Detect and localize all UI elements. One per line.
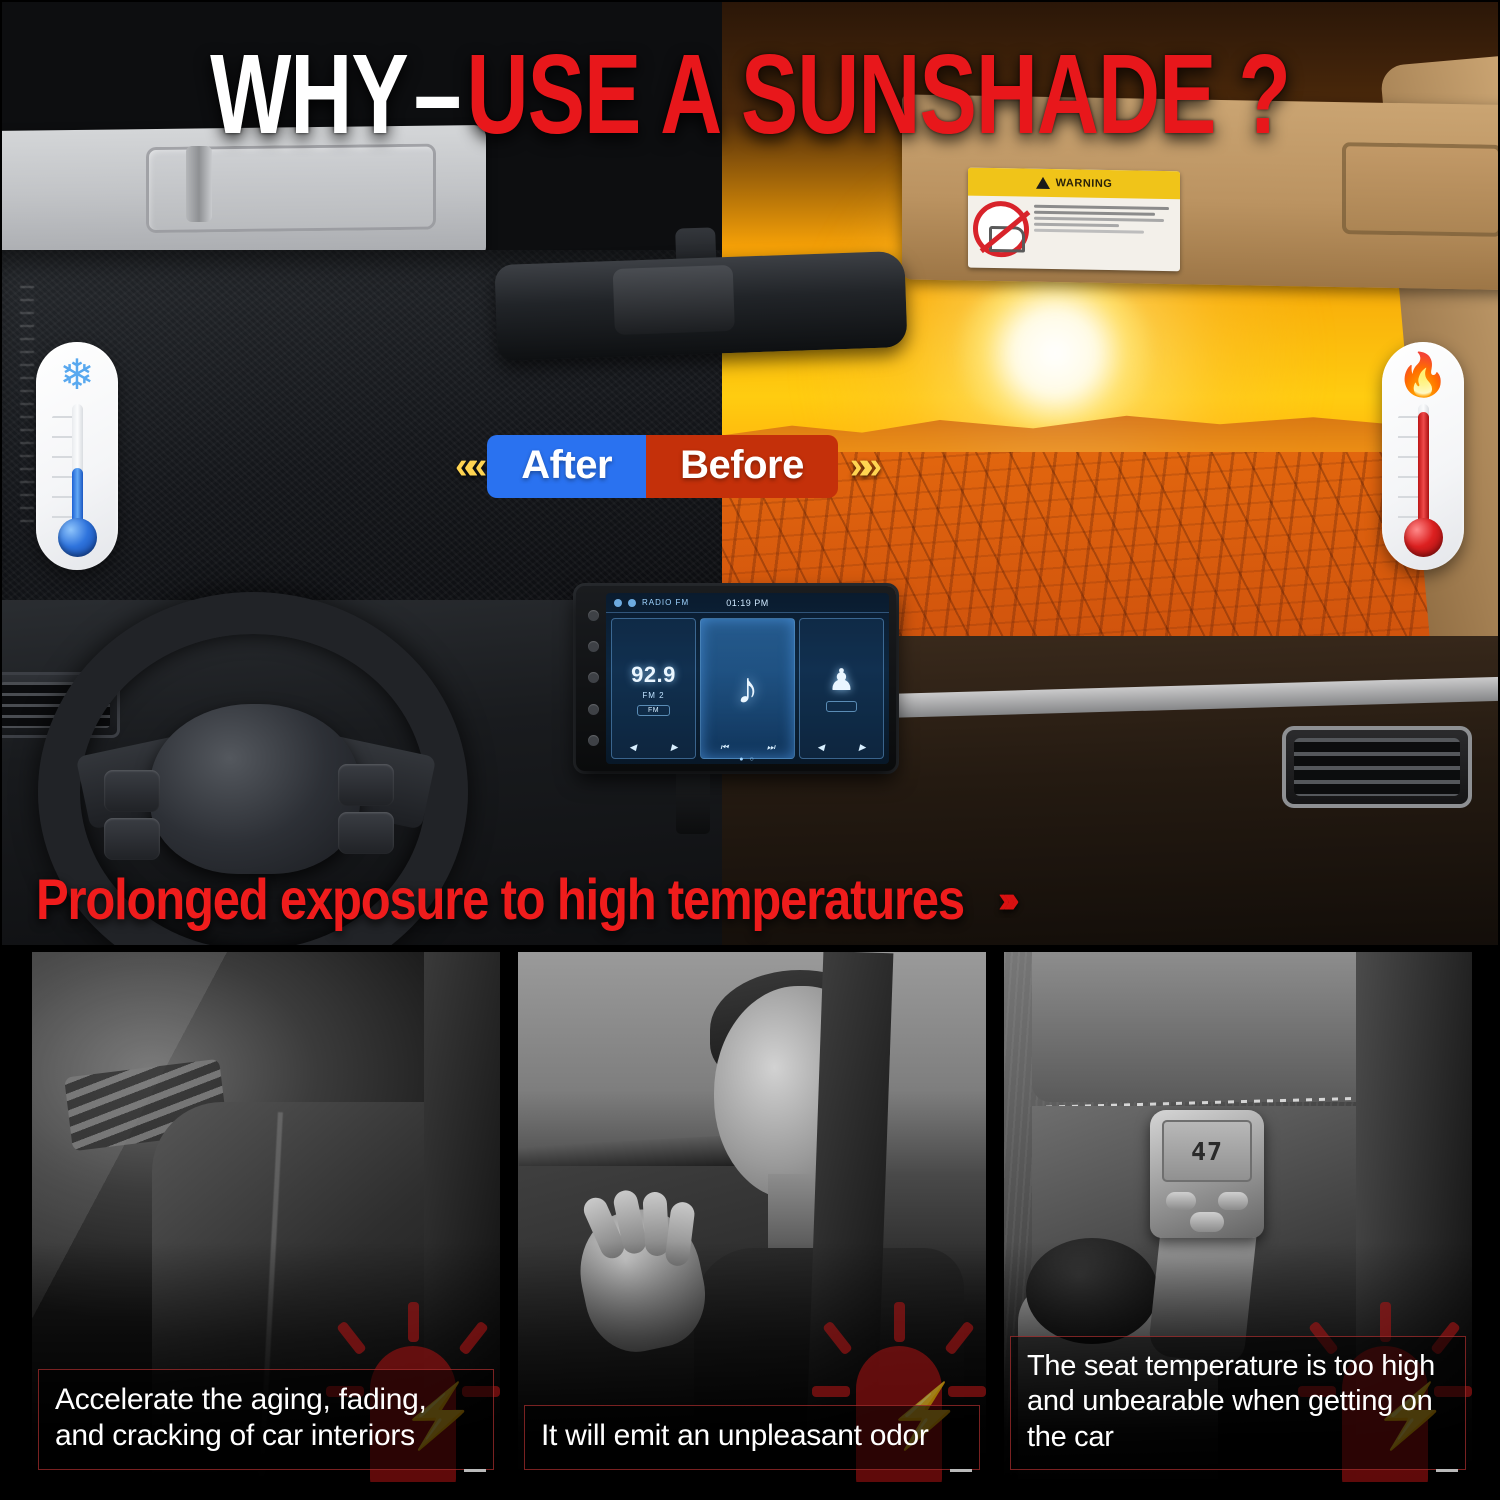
head-unit-mount — [676, 762, 710, 834]
panel1-caption-underline — [464, 1469, 486, 1472]
product-infographic: WARNING — [0, 0, 1500, 1500]
title-red-part: USE A SUNSHADE ? — [467, 31, 1290, 158]
ir-thermometer-button-c[interactable] — [1190, 1212, 1224, 1232]
hot-thermometer: 🔥 — [1382, 342, 1464, 570]
flame-icon: 🔥 — [1382, 354, 1464, 396]
infotainment-head-unit: RADIO FM 01:19 PM 92.9 FM 2 FM ◀ ▶ ♪ — [576, 586, 896, 771]
left-chevron-icon: «« — [455, 445, 477, 488]
panel3-caption: The seat temperature is too high and unb… — [1010, 1336, 1466, 1470]
no-child-seat-icon — [973, 201, 1029, 258]
warning-text-lines — [1034, 202, 1175, 260]
before-badge[interactable]: Before — [646, 435, 838, 498]
airbag-warning-label: WARNING — [968, 168, 1180, 272]
media-controls[interactable]: ⏮ ⏭ — [701, 742, 794, 753]
radio-band: FM 2 — [642, 691, 664, 700]
cold-thermometer: ❄ — [36, 342, 118, 570]
thermometer-bulb-cold — [58, 518, 97, 557]
media-prev-icon[interactable]: ⏮ — [720, 742, 728, 753]
phone-chip[interactable] — [826, 701, 858, 712]
panel2-caption: It will emit an unpleasant odor — [524, 1405, 980, 1470]
warning-label-header: WARNING — [968, 168, 1180, 200]
head-unit-button-power[interactable] — [588, 610, 599, 621]
media-next-icon[interactable]: ⏭ — [767, 742, 775, 753]
panel-seat-temperature: 47 ⚡ The seat temperature is too high an… — [1004, 952, 1472, 1482]
thermometer-fill-hot — [1418, 412, 1429, 532]
warning-label-body — [968, 196, 1180, 266]
radio-source-chip[interactable]: FM — [637, 705, 670, 716]
warning-triangle-icon — [1036, 177, 1050, 189]
phone-next-icon[interactable]: ▶ — [859, 742, 866, 753]
page-title: WHY–USE A SUNSHADE ? — [0, 38, 1500, 152]
head-unit-screen[interactable]: RADIO FM 01:19 PM 92.9 FM 2 FM ◀ ▶ ♪ — [606, 593, 889, 764]
before-after-toggle[interactable]: «« After Before »» — [455, 435, 872, 498]
steering-button-3 — [338, 764, 394, 806]
rear-view-mirror — [494, 251, 907, 361]
head-unit-clock: 01:19 PM — [606, 598, 889, 608]
radio-controls[interactable]: ◀ ▶ — [612, 742, 695, 753]
radio-card[interactable]: 92.9 FM 2 FM ◀ ▶ — [611, 618, 696, 759]
steering-button-2 — [104, 818, 160, 860]
head-unit-button-menu[interactable] — [588, 641, 599, 652]
head-unit-status-bar: RADIO FM 01:19 PM — [606, 593, 889, 613]
contact-person-icon: ♟ — [828, 666, 855, 696]
radio-next-icon[interactable]: ▶ — [671, 742, 678, 753]
thermometer-ticks-cold — [52, 416, 74, 534]
radio-prev-icon[interactable]: ◀ — [629, 742, 636, 753]
phone-controls[interactable]: ◀ ▶ — [800, 742, 883, 753]
ir-thermometer-button-a[interactable] — [1166, 1192, 1196, 1210]
panel-aging-fading-cracking: ⚡ Accelerate the aging, fading, and crac… — [32, 952, 500, 1482]
phone-prev-icon[interactable]: ◀ — [817, 742, 824, 753]
consequence-panels: ⚡ Accelerate the aging, fading, and crac… — [0, 948, 1500, 1500]
after-badge[interactable]: After — [487, 435, 646, 498]
subheadline-chevrons-icon: ››› — [980, 879, 1012, 922]
subheadline-text: Prolonged exposure to high temperatures — [36, 867, 964, 933]
title-white-part: WHY — [210, 31, 408, 158]
head-unit-cards: 92.9 FM 2 FM ◀ ▶ ♪ ⏮ ⏭ — [606, 613, 889, 764]
head-unit-button-home[interactable] — [588, 704, 599, 715]
screen-pager[interactable]: ● ○ — [606, 756, 889, 763]
panel1-caption: Accelerate the aging, fading, and cracki… — [38, 1369, 494, 1470]
right-chevron-icon: »» — [850, 445, 872, 488]
snowflake-icon: ❄ — [36, 354, 118, 396]
phone-card[interactable]: ♟ ◀ ▶ — [799, 618, 884, 759]
steering-button-1 — [104, 770, 160, 812]
air-vent-right — [1282, 726, 1472, 808]
visor-clip-left — [186, 146, 212, 222]
subheadline: Prolonged exposure to high temperatures … — [36, 872, 1012, 928]
thermometer-ticks-hot — [1398, 416, 1420, 534]
ir-thermometer-display: 47 — [1162, 1120, 1252, 1182]
head-unit-button-volume[interactable] — [588, 672, 599, 683]
thermometer-bulb-hot — [1404, 518, 1443, 557]
music-note-icon: ♪ — [737, 667, 759, 711]
steering-button-4 — [338, 812, 394, 854]
panel3-caption-underline — [1436, 1469, 1458, 1472]
head-unit-button-back[interactable] — [588, 735, 599, 746]
radio-frequency: 92.9 — [631, 662, 676, 688]
panel-unpleasant-odor: ⚡ It will emit an unpleasant odor — [518, 952, 986, 1482]
steering-wheel-hub — [150, 704, 360, 874]
head-unit-side-buttons[interactable] — [584, 600, 602, 756]
title-dash: – — [408, 31, 467, 158]
ir-temperature-reading: 47 — [1191, 1137, 1223, 1166]
warning-label-text: WARNING — [1056, 177, 1113, 190]
sun-icon — [950, 278, 1160, 428]
ir-thermometer-button-b[interactable] — [1218, 1192, 1248, 1210]
infrared-thermometer-gun: 47 — [1150, 1110, 1264, 1238]
media-card[interactable]: ♪ ⏮ ⏭ — [700, 618, 795, 759]
panel2-caption-underline — [950, 1469, 972, 1472]
